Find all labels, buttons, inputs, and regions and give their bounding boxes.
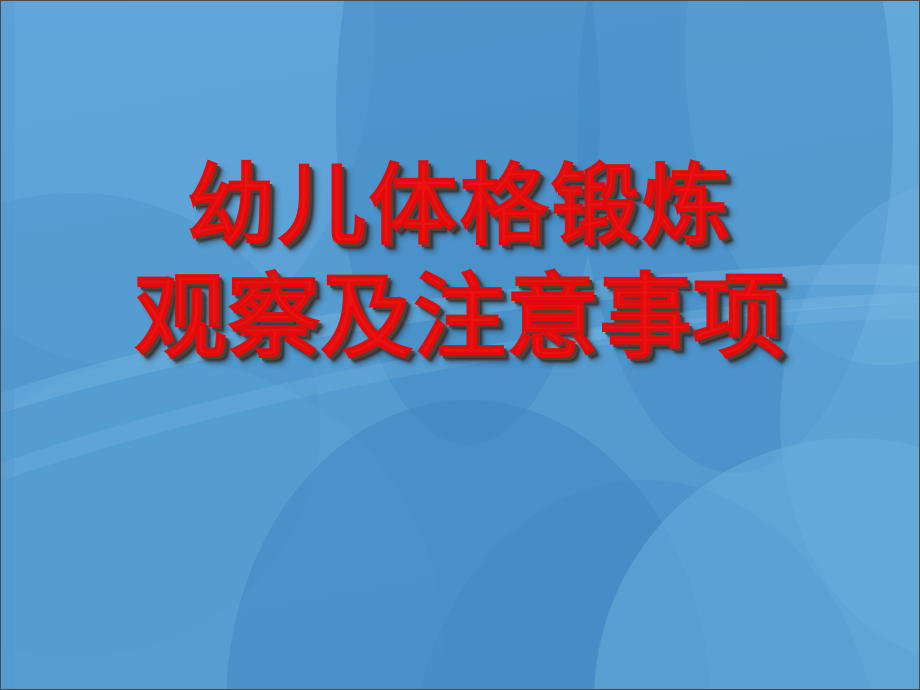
- slide-title-block: 幼儿体格锻炼 观察及注意事项: [0, 162, 920, 364]
- presentation-slide: 幼儿体格锻炼 观察及注意事项: [0, 0, 920, 690]
- title-line-1: 幼儿体格锻炼: [0, 162, 920, 250]
- title-line-2: 观察及注意事项: [0, 272, 920, 364]
